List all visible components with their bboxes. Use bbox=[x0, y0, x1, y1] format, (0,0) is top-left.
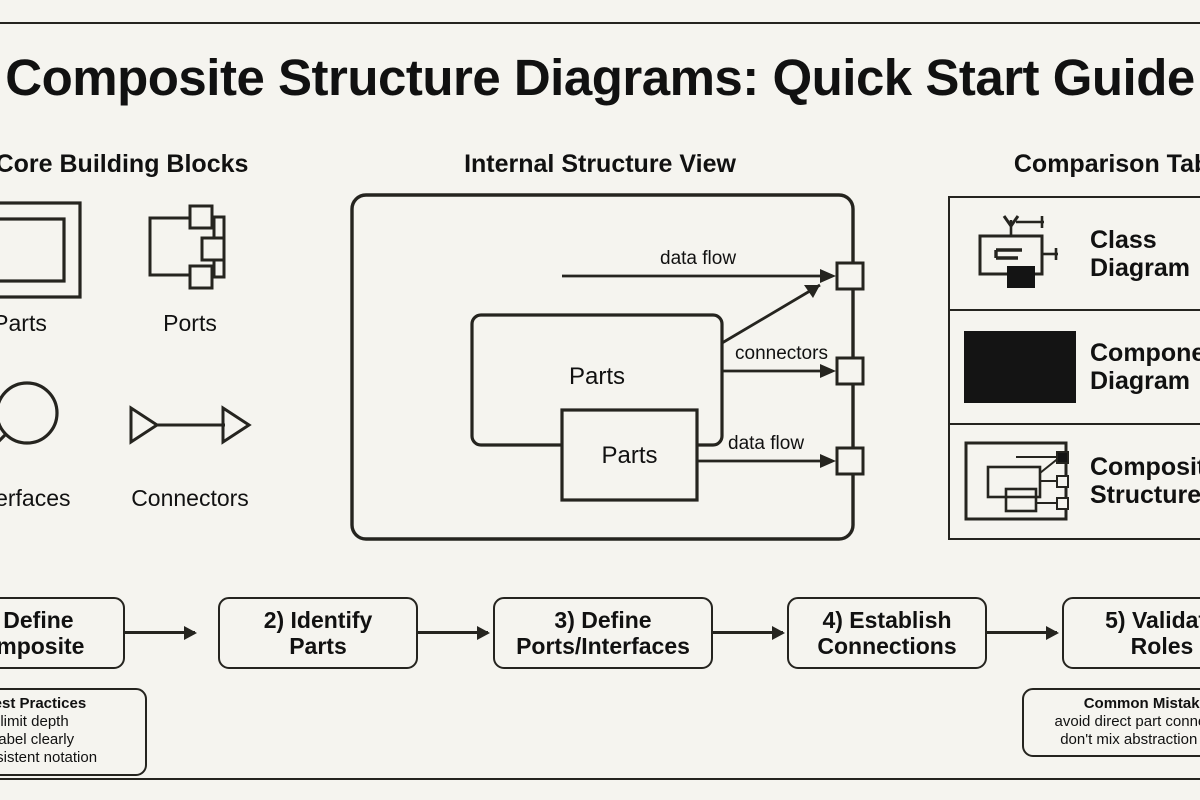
workflow-step-5[interactable]: 5) Validate Roles bbox=[1062, 597, 1200, 669]
note-line: label clearly bbox=[0, 731, 135, 749]
comparison-row-label: Class Diagram bbox=[1090, 226, 1190, 282]
connector-label-data-flow-top: data flow bbox=[660, 248, 736, 270]
section-header-building-blocks: Core Building Blocks bbox=[0, 150, 248, 179]
workflow-step-3[interactable]: 3) Define Ports/Interfaces bbox=[493, 597, 713, 669]
part-secondary-label: Parts bbox=[562, 442, 697, 470]
building-block-connectors: Connectors bbox=[110, 365, 270, 512]
note-common-mistakes: Common Mistakes avoid direct part connec… bbox=[1022, 688, 1200, 757]
building-block-label: Parts bbox=[0, 310, 100, 337]
composite-structure-thumb bbox=[950, 439, 1090, 523]
comparison-table: Class Diagram Component Diagram bbox=[948, 196, 1200, 540]
port-square bbox=[837, 358, 863, 384]
comparison-row: Composite Structure bbox=[950, 425, 1200, 538]
building-blocks-panel: Parts Ports Interfaces bbox=[0, 190, 270, 540]
nested-rectangle-icon bbox=[0, 190, 100, 310]
comparison-row: Class Diagram bbox=[950, 198, 1200, 311]
workflow-step-1[interactable]: 1) Define Composite bbox=[0, 597, 125, 669]
note-title: Best Practices bbox=[0, 695, 135, 713]
workflow-arrow bbox=[125, 631, 195, 634]
workflow-step-4[interactable]: 4) Establish Connections bbox=[787, 597, 987, 669]
note-line: limit depth bbox=[0, 713, 135, 731]
port-squares-icon bbox=[110, 190, 270, 310]
building-block-label: Ports bbox=[110, 310, 270, 337]
building-block-label: Interfaces bbox=[0, 485, 100, 512]
building-block-ports: Ports bbox=[110, 190, 270, 337]
workflow-arrow bbox=[987, 631, 1057, 634]
frame-bottom-rule bbox=[0, 778, 1200, 780]
note-line: consistent notation bbox=[0, 749, 135, 767]
connector-label-connectors: connectors bbox=[735, 343, 828, 365]
port-square bbox=[837, 448, 863, 474]
frame-top-rule bbox=[0, 22, 1200, 24]
component-diagram-thumb bbox=[950, 329, 1090, 405]
building-block-interfaces: Interfaces bbox=[0, 365, 100, 512]
building-block-parts: Parts bbox=[0, 190, 100, 337]
connector-label-data-flow-bottom: data flow bbox=[728, 433, 804, 455]
note-line: avoid direct part connections bbox=[1034, 713, 1200, 731]
workflow-step-2[interactable]: 2) Identify Parts bbox=[218, 597, 418, 669]
poster-canvas: Composite Structure Diagrams: Quick Star… bbox=[0, 0, 1200, 800]
comparison-row-label: Composite Structure bbox=[1090, 453, 1200, 509]
building-block-label: Connectors bbox=[110, 485, 270, 512]
section-header-comparison-table: Comparison Table bbox=[1014, 150, 1200, 179]
page-title: Composite Structure Diagrams: Quick Star… bbox=[5, 48, 1194, 107]
workflow-arrow bbox=[418, 631, 488, 634]
workflow-arrow bbox=[713, 631, 783, 634]
workflow-steps: 1) Define Composite 2) Identify Parts 3)… bbox=[0, 597, 1200, 669]
class-diagram-thumb bbox=[950, 212, 1090, 296]
note-title: Common Mistakes bbox=[1034, 695, 1200, 713]
comparison-row-label: Component Diagram bbox=[1090, 339, 1200, 395]
section-header-internal-structure: Internal Structure View bbox=[464, 150, 736, 179]
comparison-row: Component Diagram bbox=[950, 311, 1200, 424]
internal-structure-diagram: Parts Parts data flow connectors data fl… bbox=[350, 193, 855, 541]
double-arrow-connector-icon bbox=[110, 365, 270, 485]
part-primary-label: Parts bbox=[472, 363, 722, 391]
lollipop-interface-icon bbox=[0, 365, 100, 485]
note-line: don't mix abstraction levels bbox=[1034, 731, 1200, 749]
note-best-practices: Best Practices limit depth label clearly… bbox=[0, 688, 147, 776]
port-square bbox=[837, 263, 863, 289]
